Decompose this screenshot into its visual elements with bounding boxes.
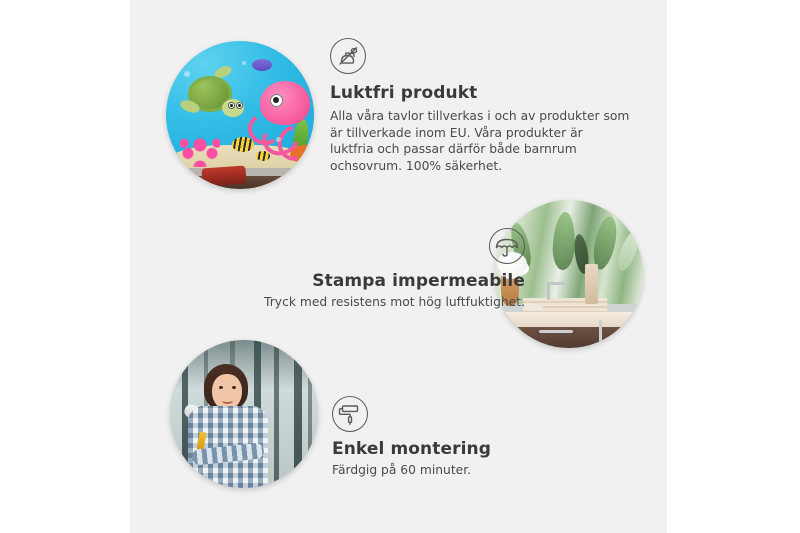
feature-heading: Enkel montering	[332, 439, 612, 459]
woman-smile	[222, 397, 233, 404]
cabinet-handle	[539, 330, 573, 333]
woman-face	[212, 374, 242, 410]
woman-eye	[219, 386, 223, 389]
bubble	[184, 71, 190, 77]
foreground-object	[201, 165, 246, 186]
feature-waterproof: Stampa impermeabile Tryck med resistens …	[190, 228, 525, 311]
cabinet-handle	[599, 320, 602, 342]
woman-eye	[232, 386, 236, 389]
coral-shape	[180, 133, 220, 167]
icon-wrapper	[190, 228, 525, 264]
feature-body: Tryck med resistens mot hög luftfuktighe…	[190, 294, 525, 311]
bottle	[585, 264, 598, 304]
turtle-eye	[228, 102, 235, 109]
icon-wrapper	[330, 38, 630, 74]
paint-roller-icon	[332, 396, 368, 432]
yellow-fish	[256, 151, 270, 161]
octopus-eye	[270, 94, 283, 107]
content-panel: Luktfri produkt Alla våra tavlor tillver…	[130, 0, 667, 533]
octopus-head	[260, 81, 310, 125]
soap-dish	[523, 304, 543, 311]
icon-wrapper	[332, 396, 612, 432]
underwater-cartoon-photo	[166, 41, 314, 189]
turtle-eye	[236, 102, 243, 109]
feature-body: Alla våra tavlor tillverkas i och av pro…	[330, 108, 630, 174]
umbrella-icon	[489, 228, 525, 264]
wood-cabinet	[509, 327, 641, 348]
feature-assembly: Enkel montering Färdgig på 60 minuter.	[332, 396, 612, 479]
feature-heading: Stampa impermeabile	[190, 271, 525, 291]
bubble	[242, 61, 246, 65]
no-fragrance-icon	[330, 38, 366, 74]
feature-heading: Luktfri produkt	[330, 83, 630, 103]
yellow-fish	[232, 137, 254, 152]
feature-odourless: Luktfri produkt Alla våra tavlor tillver…	[330, 38, 630, 174]
product-feature-panel: Luktfri produkt Alla våra tavlor tillver…	[0, 0, 800, 533]
faucet	[547, 282, 550, 300]
feature-body: Färdgig på 60 minuter.	[332, 462, 612, 479]
bubble	[276, 137, 281, 142]
purple-fish	[252, 59, 272, 71]
woman-paint-roller-photo	[170, 340, 318, 488]
